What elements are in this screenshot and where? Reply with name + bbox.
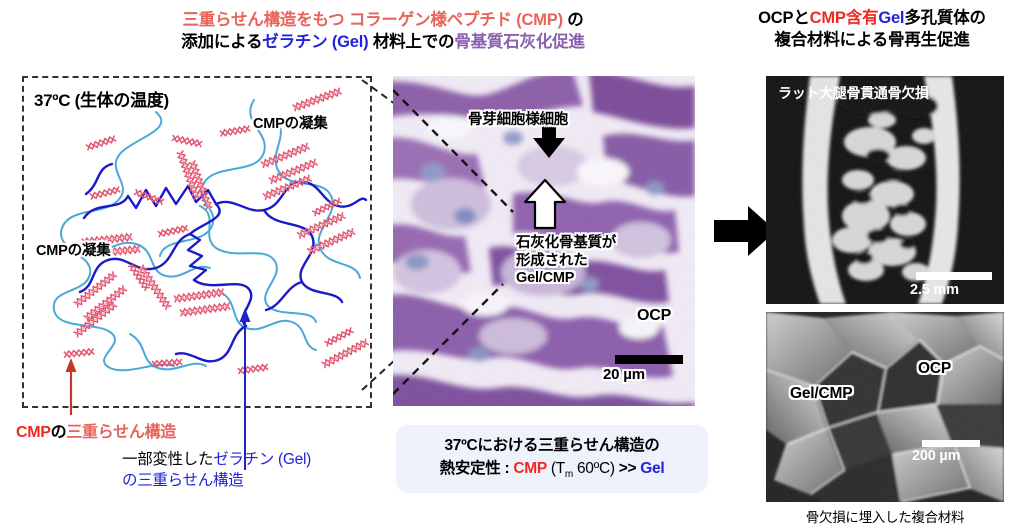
scalebar-200um-text: 200 µm	[912, 448, 980, 464]
matrix-line-2: 形成された	[516, 253, 616, 271]
thermal-tm-value: 60ºC)	[573, 460, 619, 477]
matrix-line-3: Gel/CMP	[516, 270, 616, 288]
scalebar-25mm-text: 2.5 mm	[910, 282, 992, 298]
thermal-prefix: 熱安定性 :	[440, 460, 514, 477]
mineralized-matrix-label: 石灰化骨基質が 形成された Gel/CMP	[516, 235, 616, 288]
microct-title: ラット大腿骨貫通骨欠損	[778, 83, 929, 103]
title-no-1: の	[563, 11, 584, 29]
sem-gelcmp-label: Gel/CMP	[790, 385, 852, 403]
sem-ocp-label: OCP	[918, 360, 951, 378]
thermal-tm-open: (T	[547, 460, 565, 477]
microct-render	[766, 76, 1004, 304]
title-bone-regeneration: 複合材料による骨再生促進	[722, 30, 1022, 52]
title-porous-body: 多孔質体の	[904, 9, 986, 27]
ocp-label-histology: OCP	[637, 307, 671, 325]
sem-image	[766, 312, 1004, 502]
matrix-line-1: 石灰化骨基質が	[516, 235, 616, 253]
sem-render	[766, 312, 1004, 502]
caption-triple-helix: 三重らせん構造	[66, 424, 176, 441]
title-gel-right: Gel	[878, 9, 904, 27]
scalebar-20um-text: 20 µm	[603, 366, 683, 383]
title-ocp-and: OCPと	[758, 9, 809, 27]
gel-triple-helix-caption: 一部変性したゼラチン (Gel) の三重らせん構造	[122, 450, 311, 492]
thermal-cmp: CMP	[513, 460, 547, 477]
thermal-stability-box: 37ºCにおける三重らせん構造の 熱安定性 : CMP (Tm 60ºC) >>…	[396, 425, 708, 493]
thermal-line-1: 37ºCにおける三重らせん構造の	[440, 435, 665, 457]
osteoblast-label: 骨芽細胞様細胞	[468, 108, 568, 129]
title-mineralization: 骨基質石灰化促進	[454, 33, 584, 51]
thermal-stability-text: 37ºCにおける三重らせん構造の 熱安定性 : CMP (Tm 60ºC) >>…	[440, 435, 665, 482]
title-cmp-phrase: 三重らせん構造をもつ コラーゲン様ペプチド (CMP)	[182, 11, 562, 29]
microct-image	[766, 76, 1004, 304]
thermal-gel: Gel	[640, 460, 664, 477]
right-panel-title: OCPとCMP含有Gel多孔質体の 複合材料による骨再生促進	[722, 8, 1022, 52]
schematic-temperature-label: 37ºC (生体の温度)	[34, 86, 169, 111]
scalebar-200um: 200 µm	[912, 440, 980, 464]
caption-cmp: CMP	[16, 424, 51, 441]
scalebar-20um: 20 µm	[603, 355, 683, 383]
title-addition: 添加による	[181, 33, 262, 51]
caption-denatured: 一部変性した	[122, 451, 213, 468]
caption-gelatin: ゼラチン (Gel)	[213, 451, 311, 468]
thermal-tm-subscript: m	[565, 469, 573, 480]
scalebar-25mm-bar	[916, 272, 992, 280]
scalebar-25mm: 2.5 mm	[910, 272, 992, 298]
scalebar-200um-bar	[922, 440, 980, 447]
scalebar-20um-bar	[615, 355, 683, 364]
title-on-material: 材料上での	[368, 33, 454, 51]
left-panel-title: 三重らせん構造をもつ コラーゲン様ペプチド (CMP) の 添加によるゼラチン …	[118, 10, 648, 54]
caption-no: の	[51, 424, 67, 441]
cmp-aggregation-label-right: CMPの凝集	[253, 112, 328, 133]
title-gel: ゼラチン (Gel)	[262, 33, 368, 51]
sem-caption: 骨欠損に埋入した複合材料	[766, 506, 1004, 526]
caption-gel-helix: の三重らせん構造	[122, 471, 311, 492]
title-cmp-containing: CMP含有	[810, 9, 879, 27]
cmp-aggregation-label-left: CMPの凝集	[36, 239, 111, 260]
thermal-gt: >>	[619, 460, 641, 477]
cmp-triple-helix-caption: CMPの三重らせん構造	[16, 418, 176, 442]
